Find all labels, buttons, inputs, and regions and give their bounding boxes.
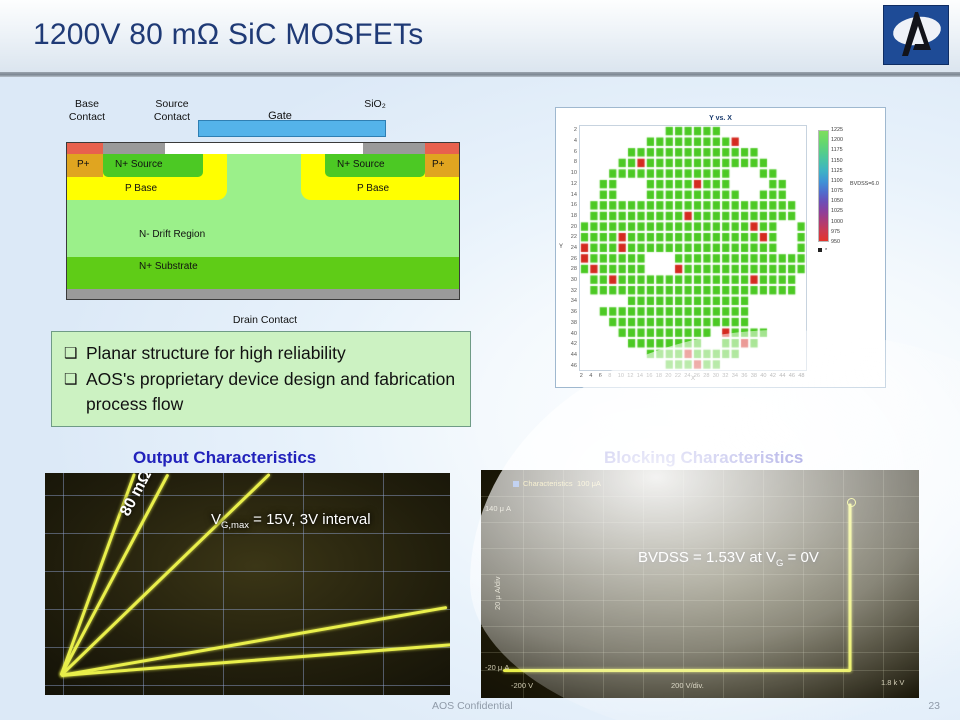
label-source-contact: Source Contact — [139, 98, 205, 123]
grid-line — [481, 600, 919, 601]
blocking-y-max-label: 140 μ A — [485, 504, 511, 513]
wafer-legend-label: BVDSS=6.0 — [850, 181, 879, 187]
wafer-y-tick: 32 — [567, 288, 577, 294]
mosfet-cross-section-diagram: Base Contact Source Contact Gate SiO₂ — [55, 96, 471, 334]
grid-line — [481, 626, 919, 627]
source-contact-metal-left — [103, 143, 165, 154]
wafer-y-tick: 12 — [567, 181, 577, 187]
wafer-map-title: Y vs. X — [556, 115, 885, 122]
logo-mark-icon — [884, 6, 948, 64]
wafer-die-grid — [580, 126, 806, 370]
blocking-x-min-label: -200 V — [511, 681, 533, 690]
legend-square-icon — [818, 248, 822, 252]
wafer-y-tick: 2 — [567, 127, 577, 133]
scope-header-value: 100 μA — [577, 479, 601, 488]
n-plus-substrate — [67, 257, 459, 289]
wafer-y-tick: 16 — [567, 202, 577, 208]
slide-canvas: 1200V 80 mΩ SiC MOSFETs Base Contact Sou… — [0, 0, 960, 720]
breakdown-cursor-marker — [847, 498, 856, 507]
page-title: 1200V 80 mΩ SiC MOSFETs — [33, 18, 423, 52]
wafer-y-tick: 18 — [567, 213, 577, 219]
grid-line — [523, 470, 524, 698]
wafer-y-tick: 6 — [567, 149, 577, 155]
bvdss-suffix: = 0V — [783, 549, 818, 566]
bullet-item-0: ❑ Planar structure for high reliability — [64, 341, 460, 366]
wafer-y-tick: 42 — [567, 341, 577, 347]
wafer-colorbar-tick: 1100 — [831, 178, 843, 184]
blocking-leakage-trace — [503, 669, 851, 672]
grid-line — [303, 473, 304, 695]
wafer-y-tick: 20 — [567, 224, 577, 230]
wafer-colorbar-tick: 1075 — [831, 188, 843, 194]
footer-page-number: 23 — [928, 700, 940, 712]
blocking-y-min-label: -20 μ A — [485, 663, 509, 672]
wafer-y-tick: 10 — [567, 170, 577, 176]
header-divider — [0, 72, 960, 77]
text-n-source-left: N+ Source — [115, 159, 163, 170]
wafer-colorbar-tick: 1125 — [831, 168, 843, 174]
bvdss-prefix: BVDSS = 1.53V at V — [638, 549, 776, 566]
grid-line — [481, 574, 919, 575]
bullet-item-1: ❑ AOS's proprietary device design and fa… — [64, 367, 460, 417]
grid-line — [45, 533, 450, 534]
wafer-y-tick: 28 — [567, 266, 577, 272]
vgmax-suffix: = 15V, 3V interval — [249, 511, 371, 528]
wafer-y-tick: 8 — [567, 159, 577, 165]
grid-line — [643, 470, 644, 698]
blocking-x-max-label: 1.8 k V — [881, 678, 904, 687]
text-p-plus-right: P+ — [432, 159, 445, 170]
wafer-probe-map: Y vs. X 24681012141618202224262830323436… — [555, 107, 886, 388]
label-drain-contact: Drain Contact — [185, 314, 345, 327]
bullet-text-0: Planar structure for high reliability — [86, 341, 460, 366]
checkbox-bullet-icon: ❑ — [64, 367, 86, 392]
label-sio2: SiO₂ — [345, 98, 405, 111]
wafer-colorbar-tick: 1025 — [831, 208, 843, 214]
grid-line — [563, 470, 564, 698]
scope-header-label: Characteristics — [523, 479, 573, 488]
wafer-y-tick: 22 — [567, 234, 577, 240]
text-p-plus-left: P+ — [77, 159, 90, 170]
wafer-colorbar-tick: 1175 — [831, 147, 843, 153]
wafer-colorbar-tick: 1200 — [831, 137, 843, 143]
wafer-y-tick: 26 — [567, 256, 577, 262]
wafer-legend-symbol: * — [818, 248, 827, 254]
grid-line — [481, 522, 919, 523]
wafer-colorbar-tick: 1150 — [831, 158, 843, 164]
grid-line — [481, 496, 919, 497]
device-body: P+ P+ N+ Source N+ Source P Base P Base … — [66, 142, 460, 300]
blocking-breakdown-trace — [849, 504, 852, 672]
scope-channel-icon — [513, 481, 519, 487]
drain-contact-metal — [67, 289, 459, 299]
rdson-annotation: 80 mΩ — [117, 473, 156, 519]
wafer-y-tick: 34 — [567, 298, 577, 304]
blocking-y-div-label: 20 μ A/div — [493, 576, 502, 610]
grid-line — [883, 470, 884, 698]
wafer-colorbar-tick: 1050 — [831, 198, 843, 204]
footer-confidential-notice: AOS Confidential — [432, 700, 513, 712]
wafer-y-tick: 24 — [567, 245, 577, 251]
base-contact-metal-left — [67, 143, 103, 154]
gate-electrode — [198, 120, 386, 137]
grid-line — [603, 470, 604, 698]
grid-line — [723, 470, 724, 698]
bvdss-annotation: BVDSS = 1.53V at VG = 0V — [638, 549, 819, 569]
text-drift-region: N- Drift Region — [139, 229, 205, 240]
wafer-y-tick: 14 — [567, 192, 577, 198]
vgmax-annotation: VG,max = 15V, 3V interval — [211, 511, 371, 531]
bullet-text-1: AOS's proprietary device design and fabr… — [86, 367, 460, 417]
blocking-characteristics-scope-photo: Characteristics 100 μA 140 μ A -20 μ A 2… — [481, 470, 919, 698]
grid-line — [45, 571, 450, 572]
base-contact-metal-right — [425, 143, 460, 154]
text-p-base-left: P Base — [125, 183, 157, 194]
label-base-contact: Base Contact — [57, 98, 117, 123]
heading-output-characteristics: Output Characteristics — [133, 448, 316, 468]
wafer-x-axis-title: X — [579, 376, 807, 382]
wafer-colorbar — [818, 130, 829, 242]
wafer-y-tick: 30 — [567, 277, 577, 283]
grid-line — [45, 609, 450, 610]
wafer-y-tick: 36 — [567, 309, 577, 315]
wafer-y-tick: 38 — [567, 320, 577, 326]
wafer-y-axis-title: Y — [559, 244, 563, 250]
wafer-colorbar-tick: 1225 — [831, 127, 843, 133]
vgmax-subscript: G,max — [221, 520, 249, 531]
grid-line — [481, 652, 919, 653]
aos-logo — [883, 5, 949, 65]
output-curve-vgs-3v — [61, 643, 450, 677]
heading-blocking-characteristics: Blocking Characteristics — [604, 448, 803, 468]
wafer-map-plot-area — [579, 125, 807, 371]
grid-line — [843, 470, 844, 698]
key-features-callout: ❑ Planar structure for high reliability … — [51, 331, 471, 427]
vgmax-prefix: V — [211, 511, 221, 528]
wafer-y-tick: 46 — [567, 363, 577, 369]
wafer-y-tick: 40 — [567, 331, 577, 337]
wafer-y-tick: 44 — [567, 352, 577, 358]
output-curve-vgs-12v — [60, 473, 170, 676]
output-characteristics-scope-photo: 80 mΩ VG,max = 15V, 3V interval — [45, 473, 450, 695]
grid-line — [383, 473, 384, 695]
grid-line — [763, 470, 764, 698]
grid-line — [803, 470, 804, 698]
gate-oxide-layer — [165, 143, 363, 154]
wafer-y-tick: 4 — [567, 138, 577, 144]
source-contact-metal-right — [363, 143, 425, 154]
text-n-source-right: N+ Source — [337, 159, 385, 170]
checkbox-bullet-icon: ❑ — [64, 341, 86, 366]
grid-line — [45, 685, 450, 686]
wafer-colorbar-tick: 975 — [831, 229, 840, 235]
wafer-colorbar-tick: 1000 — [831, 219, 843, 225]
blocking-x-div-label: 200 V/div. — [671, 681, 704, 690]
text-p-base-right: P Base — [357, 183, 389, 194]
text-substrate: N+ Substrate — [139, 261, 198, 272]
grid-line — [683, 470, 684, 698]
wafer-colorbar-tick: 950 — [831, 239, 840, 245]
